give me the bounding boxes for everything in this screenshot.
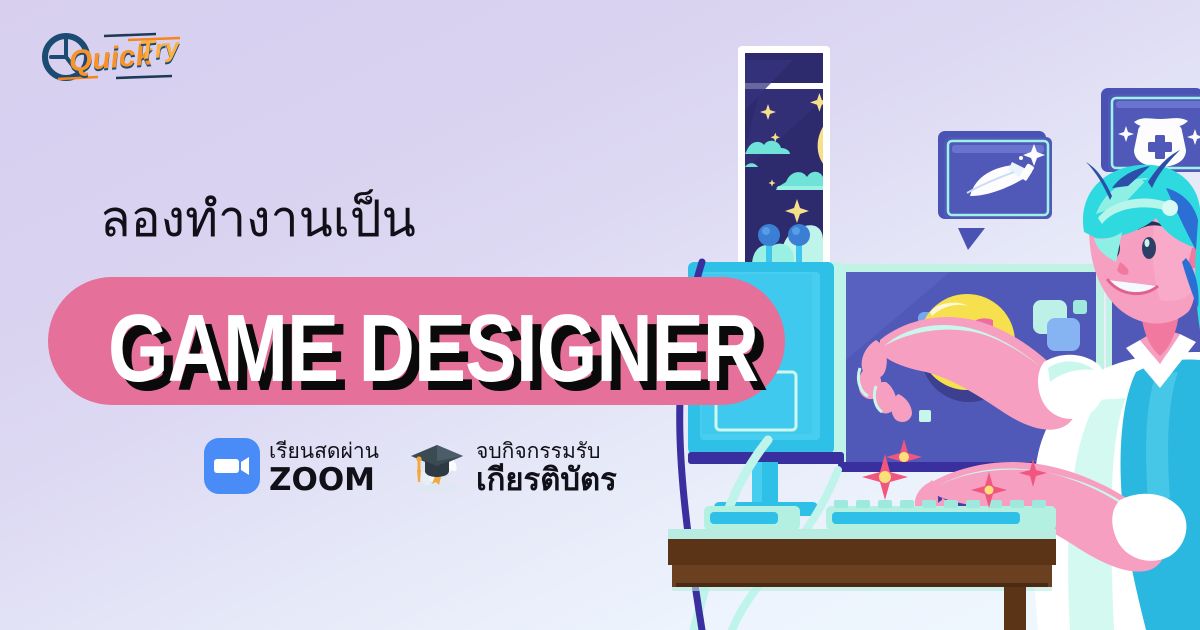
svg-text:Try: Try [138, 32, 182, 66]
graduation-cap-diploma-icon [407, 437, 467, 500]
badge-certificate: จบกิจกรรมรับ เกียรติบัตร [407, 437, 617, 500]
quicktry-logo[interactable]: Quick Quick Try Try [36, 26, 211, 88]
kicker-text: ลองทำงานเป็น [100, 193, 416, 246]
page-title: GAME DESIGNER GAME DESIGNER [108, 293, 768, 391]
title-main-layer: GAME DESIGNER [108, 293, 758, 404]
badge-zoom-text: เรียนสดผ่าน ZOOM [269, 441, 379, 496]
badge-zoom-line2: ZOOM [269, 465, 379, 496]
feature-badges: เรียนสดผ่าน ZOOM [204, 437, 617, 500]
badge-certificate-line2: เกียรติบัตร [476, 465, 617, 496]
zoom-video-icon [204, 438, 260, 499]
badge-zoom: เรียนสดผ่าน ZOOM [204, 438, 379, 499]
promotional-banner: Quick Quick Try Try ลองทำงานเป็น GAME DE… [0, 0, 1200, 630]
desk [668, 529, 1056, 630]
badge-zoom-line1: เรียนสดผ่าน [269, 441, 379, 462]
portrait-monitor-night-sky [738, 46, 864, 274]
popup-monitor-sword [938, 131, 1052, 250]
badge-certificate-text: จบกิจกรรมรับ เกียรติบัตร [476, 441, 617, 496]
badge-certificate-line1: จบกิจกรรมรับ [476, 441, 617, 462]
